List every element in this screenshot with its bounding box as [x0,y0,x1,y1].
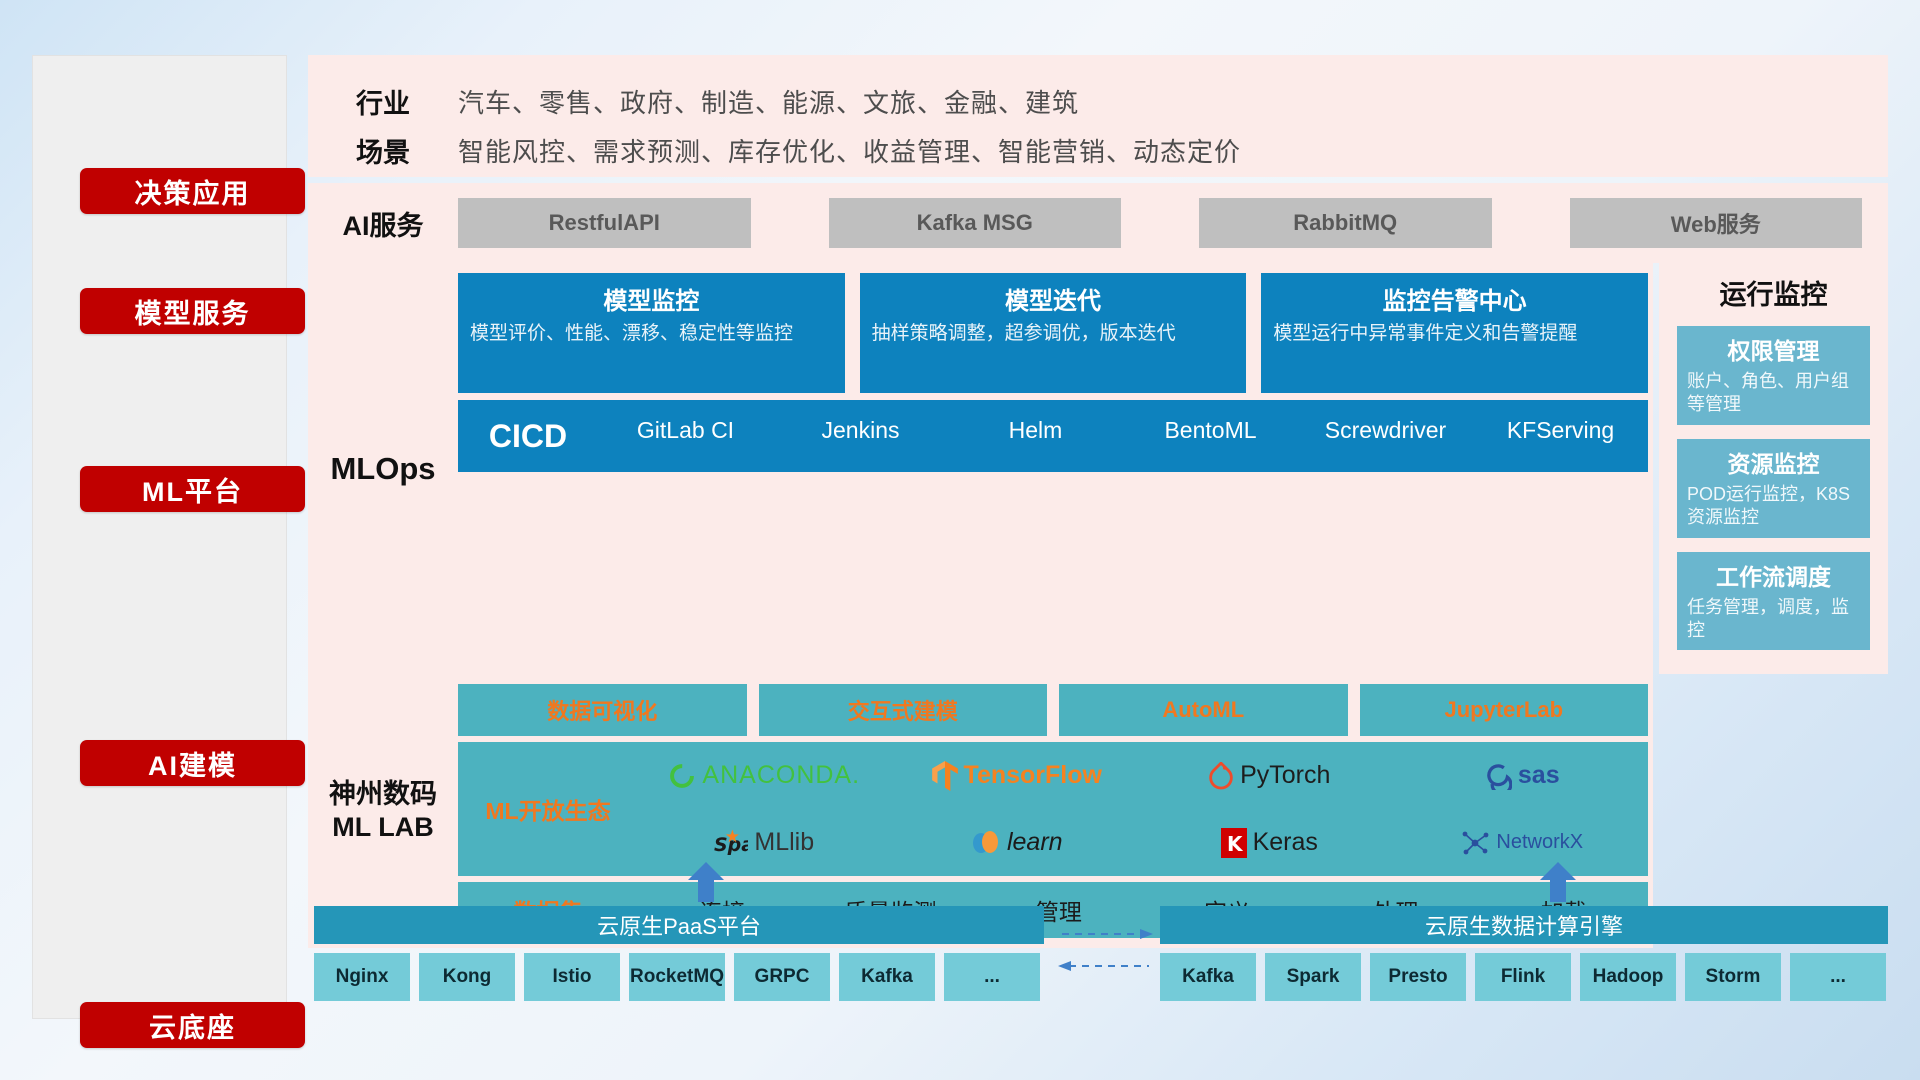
rail-label-text: ML平台 [142,470,243,509]
logo-keras-text: Keras [1253,828,1318,857]
run-monitor-card-resource[interactable]: 资源监控 POD运行监控，K8S资源监控 [1677,439,1870,538]
rail-item-model-service[interactable]: 模型服务 [80,288,305,334]
keras-icon: K [1221,828,1247,858]
mlops-card-desc: 模型评价、性能、漂移、稳定性等监控 [470,322,833,346]
left-rail: 决策应用 模型服务 ML平台 AI建模 云底座 [32,55,287,1019]
paas-chip-more[interactable]: ... [944,953,1040,1001]
rail-item-ai-modeling[interactable]: AI建模 [80,740,305,786]
ai-service-chip-web-service[interactable]: Web服务 [1570,198,1863,248]
ml-lab-tool-jupyterlab[interactable]: JupyterLab [1360,684,1649,736]
logo-mllib-text: MLlib [754,828,814,857]
ml-open-ecosystem: ML开放生态 ANACONDA. [458,742,1648,876]
logo-anaconda: ANACONDA. [668,761,860,790]
paas-chip-grpc[interactable]: GRPC [734,953,830,1001]
cicd-item-helm[interactable]: Helm [948,400,1123,443]
compute-chip-list: Kafka Spark Presto Flink Hadoop Storm ..… [1160,953,1886,1001]
run-monitor-card-title: 工作流调度 [1687,558,1860,592]
rail-item-decision-app[interactable]: 决策应用 [80,168,305,214]
run-monitor-card-title: 权限管理 [1687,332,1860,366]
ai-service-chip-rabbitmq[interactable]: RabbitMQ [1199,198,1492,248]
ai-service-chip-kafka-msg[interactable]: Kafka MSG [829,198,1122,248]
compute-chip-hadoop[interactable]: Hadoop [1580,953,1676,1001]
paas-chip-kong[interactable]: Kong [419,953,515,1001]
scenario-row: 场景 智能风控、需求预测、库存优化、收益管理、智能营销、动态定价 [308,126,1888,175]
mlops-key: MLOps [308,273,458,664]
logo-scikit-learn: learn [971,828,1063,858]
logo-pytorch: PyTorch [1208,761,1330,790]
paas-chip-list: Nginx Kong Istio RocketMQ GRPC Kafka ... [314,953,1040,1001]
compute-chip-presto[interactable]: Presto [1370,953,1466,1001]
paas-chip-kafka[interactable]: Kafka [839,953,935,1001]
sas-icon [1484,762,1512,790]
networkx-icon [1460,829,1490,857]
rail-label-text: 模型服务 [135,292,251,331]
arrow-up-paas-icon [688,862,724,902]
ml-lab-tool-data-visualization[interactable]: 数据可视化 [458,684,747,736]
industry-scenario-band: 行业 汽车、零售、政府、制造、能源、文旅、金融、建筑 场景 智能风控、需求预测、… [308,55,1888,177]
mlops-card-alert-center[interactable]: 监控告警中心 模型运行中异常事件定义和告警提醒 [1261,273,1648,393]
cloud-native-paas-bar[interactable]: 云原生PaaS平台 [314,906,1044,944]
run-monitor-card-desc: POD运行监控，K8S资源监控 [1687,483,1860,530]
ml-lab-key-line2: ML LAB [332,811,434,845]
svg-text:K: K [1227,832,1244,856]
rail-item-ml-platform[interactable]: ML平台 [80,466,305,512]
logo-networkx-text: NetworkX [1496,831,1583,854]
logo-sas-text: sas [1518,761,1560,790]
ml-logo-grid: ANACONDA. TensorFlow [638,742,1648,876]
compute-chip-more[interactable]: ... [1790,953,1886,1001]
logo-pytorch-text: PyTorch [1240,761,1330,790]
mlops-card-title: 监控告警中心 [1273,281,1636,316]
mlops-body: 模型监控 模型评价、性能、漂移、稳定性等监控 模型迭代 抽样策略调整，超参调优，… [458,273,1653,664]
cloud-native-compute-bar[interactable]: 云原生数据计算引擎 [1160,906,1888,944]
paas-chip-istio[interactable]: Istio [524,953,620,1001]
mlops-and-monitor-band: MLOps 模型监控 模型评价、性能、漂移、稳定性等监控 模型迭代 抽样策略调整… [308,263,1888,674]
run-monitor-card-desc: 任务管理，调度，监控 [1687,596,1860,643]
mlops-card-model-iteration[interactable]: 模型迭代 抽样策略调整，超参调优，版本迭代 [860,273,1247,393]
ml-lab-tool-automl[interactable]: AutoML [1059,684,1348,736]
compute-chip-flink[interactable]: Flink [1475,953,1571,1001]
scenario-key: 场景 [308,131,458,170]
ml-lab-tool-interactive-modeling[interactable]: 交互式建模 [759,684,1048,736]
cicd-title: CICD [458,400,598,472]
ai-service-chip-list: RestfulAPI Kafka MSG RabbitMQ Web服务 [458,198,1888,248]
pytorch-icon [1208,762,1234,790]
industry-row: 行业 汽车、零售、政府、制造、能源、文旅、金融、建筑 [308,77,1888,126]
logo-networkx: NetworkX [1460,829,1583,857]
ml-lab-tool-list: 数据可视化 交互式建模 AutoML JupyterLab [458,684,1648,736]
mlops-card-model-monitoring[interactable]: 模型监控 模型评价、性能、漂移、稳定性等监控 [458,273,845,393]
logo-tensorflow-text: TensorFlow [964,761,1102,790]
tensorflow-icon [932,761,958,791]
run-monitor-card-workflow[interactable]: 工作流调度 任务管理，调度，监控 [1677,552,1870,651]
spark-icon: Spark [714,829,748,857]
mlops-card-title: 模型监控 [470,281,833,316]
ml-lab-key-line1: 神州数码 [329,778,437,812]
ai-service-key: AI服务 [308,204,458,243]
run-monitor-card-permission[interactable]: 权限管理 账户、角色、用户组等管理 [1677,326,1870,425]
arrow-up-compute-icon [1540,862,1576,902]
mlops-card-desc: 模型运行中异常事件定义和告警提醒 [1273,322,1636,346]
ai-service-chip-restfulapi[interactable]: RestfulAPI [458,198,751,248]
logo-keras: K Keras [1221,828,1318,858]
bidirectional-dashed-arrows [1058,922,1153,982]
logo-anaconda-text: ANACONDA. [702,761,860,790]
logo-sas: sas [1484,761,1560,790]
anaconda-icon [668,762,696,790]
cicd-item-gitlab-ci[interactable]: GitLab CI [598,400,773,443]
rail-label-text: 决策应用 [135,172,251,211]
paas-chip-rocketmq[interactable]: RocketMQ [629,953,725,1001]
cicd-item-kfserving[interactable]: KFServing [1473,400,1648,443]
mlops-card-desc: 抽样策略调整，超参调优，版本迭代 [872,322,1235,346]
run-monitor-card-title: 资源监控 [1687,445,1860,479]
paas-chip-nginx[interactable]: Nginx [314,953,410,1001]
mlops-section: MLOps 模型监控 模型评价、性能、漂移、稳定性等监控 模型迭代 抽样策略调整… [308,263,1653,674]
cloud-base-section: 云原生PaaS平台 云原生数据计算引擎 Nginx Kong Istio Roc… [308,880,1888,1020]
rail-item-cloud-base[interactable]: 云底座 [80,1002,305,1048]
cicd-item-jenkins[interactable]: Jenkins [773,400,948,443]
scikit-learn-icon [971,828,1001,858]
logo-learn-text: learn [1007,828,1063,857]
ai-service-band: AI服务 RestfulAPI Kafka MSG RabbitMQ Web服务 [308,183,1888,263]
compute-chip-spark[interactable]: Spark [1265,953,1361,1001]
cicd-item-screwdriver[interactable]: Screwdriver [1298,400,1473,443]
cicd-item-bentoml[interactable]: BentoML [1123,400,1298,443]
logo-tensorflow: TensorFlow [932,761,1102,791]
run-monitor-section: 运行监控 权限管理 账户、角色、用户组等管理 资源监控 POD运行监控，K8S资… [1659,263,1888,674]
mlops-card-title: 模型迭代 [872,281,1235,316]
run-monitor-card-desc: 账户、角色、用户组等管理 [1687,370,1860,417]
main-column: 行业 汽车、零售、政府、制造、能源、文旅、金融、建筑 场景 智能风控、需求预测、… [308,55,1888,948]
compute-chip-storm[interactable]: Storm [1685,953,1781,1001]
mlops-card-list: 模型监控 模型评价、性能、漂移、稳定性等监控 模型迭代 抽样策略调整，超参调优，… [458,273,1648,393]
architecture-diagram: 决策应用 模型服务 ML平台 AI建模 云底座 行业 汽车、零售、政府、制造、能… [0,0,1920,1080]
scenario-value: 智能风控、需求预测、库存优化、收益管理、智能营销、动态定价 [458,132,1241,169]
ml-open-ecosystem-label: ML开放生态 [458,792,638,826]
industry-value: 汽车、零售、政府、制造、能源、文旅、金融、建筑 [458,83,1079,120]
cicd-strip: CICD GitLab CI Jenkins Helm BentoML Scre… [458,400,1648,472]
compute-chip-kafka[interactable]: Kafka [1160,953,1256,1001]
logo-spark-mllib: Spark MLlib [714,828,814,857]
rail-label-text: AI建模 [148,744,237,783]
run-monitor-title: 运行监控 [1677,273,1870,312]
rail-label-text: 云底座 [149,1006,236,1045]
industry-key: 行业 [308,82,458,121]
cicd-item-list: GitLab CI Jenkins Helm BentoML Screwdriv… [598,400,1648,443]
